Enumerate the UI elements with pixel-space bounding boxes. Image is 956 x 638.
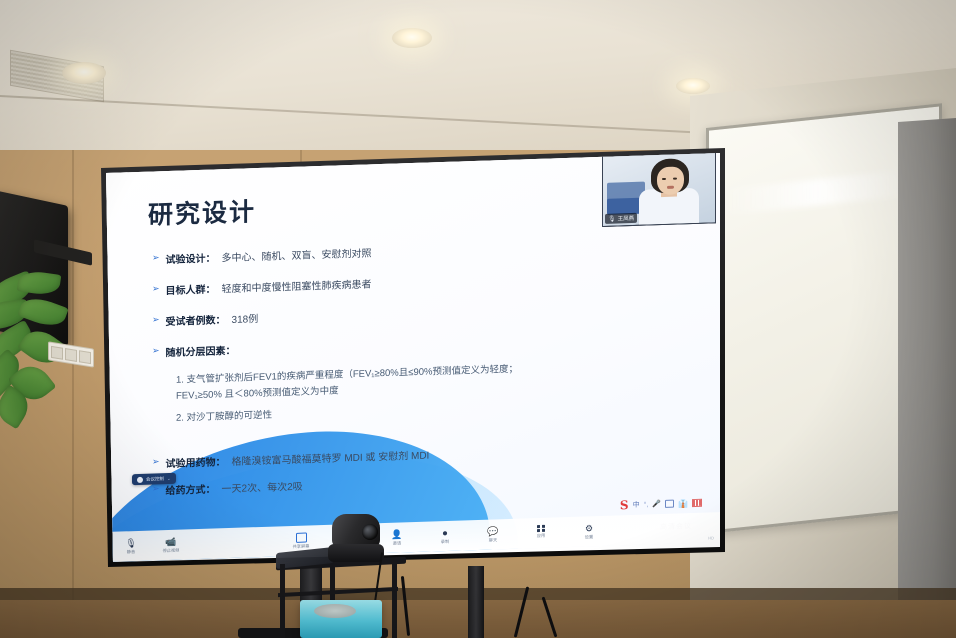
tv-brand-mark: HD (708, 535, 714, 540)
tv-screen: ▣ 您正在观看 王凤燕的屏幕 ⤢ 演示文稿 研究设计 ➢ (92, 148, 726, 568)
bullet-text: 一天2次、每次2吸 (222, 478, 303, 496)
toolbar-video-button[interactable]: 📹 停止视频 (158, 536, 184, 554)
slide-bullet: ➢ 目标人群： 轻度和中度慢性阻塞性肺疾病患者 (152, 265, 682, 297)
gear-icon: ⚙ (585, 523, 593, 533)
ceiling-light (392, 28, 432, 48)
ceiling-light (676, 78, 710, 94)
meeting-titlebar-text: 您正在观看 王凤燕的屏幕 (353, 148, 412, 155)
sogou-ime-toolbar[interactable]: S 中 °, 🎤 👔 (620, 497, 702, 512)
record-icon: ⏺ (443, 527, 448, 537)
participant-name-badge: 🎙 王凤燕 (605, 213, 637, 224)
camera-head (332, 514, 380, 548)
tv-stand-leg (468, 566, 484, 638)
bullet-label: 目标人群： (166, 280, 216, 297)
toolbar-label: 录制 (441, 538, 449, 544)
toolbar-apps-button[interactable]: 应用 (528, 524, 554, 539)
bullet-text: 轻度和中度慢性阻塞性肺疾病患者 (222, 275, 372, 295)
toolbar-chat-button[interactable]: 💬 聊天 (480, 526, 506, 544)
toolbar-label: 静音 (127, 549, 135, 555)
bullet-label: 试验设计： (166, 249, 216, 266)
slide-bullet: ➢ 试验用药物： 格隆溴铵富马酸福莫特罗 MDI 或 安慰剂 MDI (152, 438, 692, 470)
participant-video-feed: 🎙 王凤燕 (603, 151, 715, 226)
ptz-conference-camera (328, 514, 384, 568)
meeting-icon (137, 476, 143, 482)
slide-title: 研究设计 (148, 192, 256, 231)
slide-bullet: ➢ 随机分层因素： (152, 327, 682, 359)
bullet-arrow-icon: ➢ (152, 251, 160, 264)
ime-keyboard-icon[interactable] (692, 499, 702, 507)
bullet-label: 受试者例数： (166, 311, 226, 328)
ime-mode-label[interactable]: 中 (633, 500, 640, 510)
bullet-arrow-icon: ➢ (152, 455, 160, 468)
slide-bullet: ➢ 试验设计： 多中心、随机、双盲、安慰剂对照 (152, 234, 682, 266)
grey-column (898, 118, 956, 638)
ime-skin-icon[interactable]: 👔 (678, 499, 688, 508)
sogou-logo-icon[interactable]: S (620, 499, 629, 511)
bullet-label: 试验用药物： (166, 453, 226, 470)
ime-punctuation-icon[interactable]: °, (644, 501, 649, 508)
bullet-text: 多中心、随机、双盲、安慰剂对照 (222, 244, 372, 264)
slide-bullet: ➢ 受试者例数： 318例 (152, 296, 682, 328)
slide-bullet-list: ➢ 试验设计： 多中心、随机、双盲、安慰剂对照 ➢ 目标人群： 轻度和中度慢性阻… (152, 234, 682, 371)
chat-icon: 💬 (487, 526, 498, 536)
bullet-arrow-icon: ➢ (152, 313, 160, 326)
participant-name: 王凤燕 (618, 214, 635, 223)
microphone-icon: 🎙 (607, 148, 615, 152)
camera-base (328, 544, 384, 562)
microphone-icon: 🎙 (608, 215, 616, 222)
participant-video-tile[interactable]: 🎙 正在讲话：王凤燕 (602, 148, 716, 227)
toolbar-record-button[interactable]: ⏺ 录制 (432, 527, 458, 545)
cart-leg (392, 558, 397, 638)
bullet-label: 随机分层因素： (166, 342, 236, 359)
toolbar-label: 设置 (585, 534, 593, 540)
ime-toolbox-icon[interactable] (665, 500, 674, 508)
toolbar-settings-button[interactable]: ⚙ 设置 (576, 522, 602, 540)
meeting-control-pill[interactable]: 会议控制 ⌄ (132, 473, 176, 485)
whiteboard-glare (721, 169, 911, 215)
conference-speakerphone (300, 600, 382, 638)
wall-mounted-display: ▣ 您正在观看 王凤燕的屏幕 ⤢ 演示文稿 研究设计 ➢ (92, 148, 726, 568)
bullet-arrow-icon: ➢ (152, 282, 160, 295)
meeting-pill-label: 会议控制 (146, 476, 164, 483)
toolbar-mute-button[interactable]: 🎙 静音 (118, 537, 144, 555)
expand-icon[interactable]: ⤢ (415, 148, 419, 153)
bullet-arrow-icon: ➢ (152, 344, 160, 357)
toolbar-label: 应用 (537, 533, 545, 539)
toolbar-label: 停止视频 (163, 547, 180, 554)
chevron-down-icon[interactable]: ⌄ (167, 475, 171, 481)
camera-lens (362, 524, 378, 540)
conference-room-photo: ▣ 您正在观看 王凤燕的屏幕 ⤢ 演示文稿 研究设计 ➢ (0, 0, 956, 638)
slide-bullet: ➢ 给药方式： 一天2次、每次2吸 (152, 465, 692, 497)
cart-rail (278, 587, 398, 597)
screen-share-icon: ▣ (345, 149, 350, 155)
microphone-icon: 🎙 (125, 538, 136, 548)
meeting-titlebar: ▣ 您正在观看 王凤燕的屏幕 ⤢ (338, 148, 426, 159)
toolbar-label: 聊天 (489, 537, 497, 543)
ceiling-light (62, 62, 106, 84)
apps-grid-icon (537, 524, 545, 532)
cart-leg (280, 564, 285, 638)
shared-screen: ▣ 您正在观看 王凤燕的屏幕 ⤢ 演示文稿 研究设计 ➢ (106, 148, 720, 562)
speakerphone-grille (314, 604, 356, 618)
video-camera-icon: 📹 (165, 536, 176, 546)
bullet-text: 318例 (232, 310, 259, 326)
ime-voice-icon[interactable]: 🎤 (652, 500, 661, 508)
